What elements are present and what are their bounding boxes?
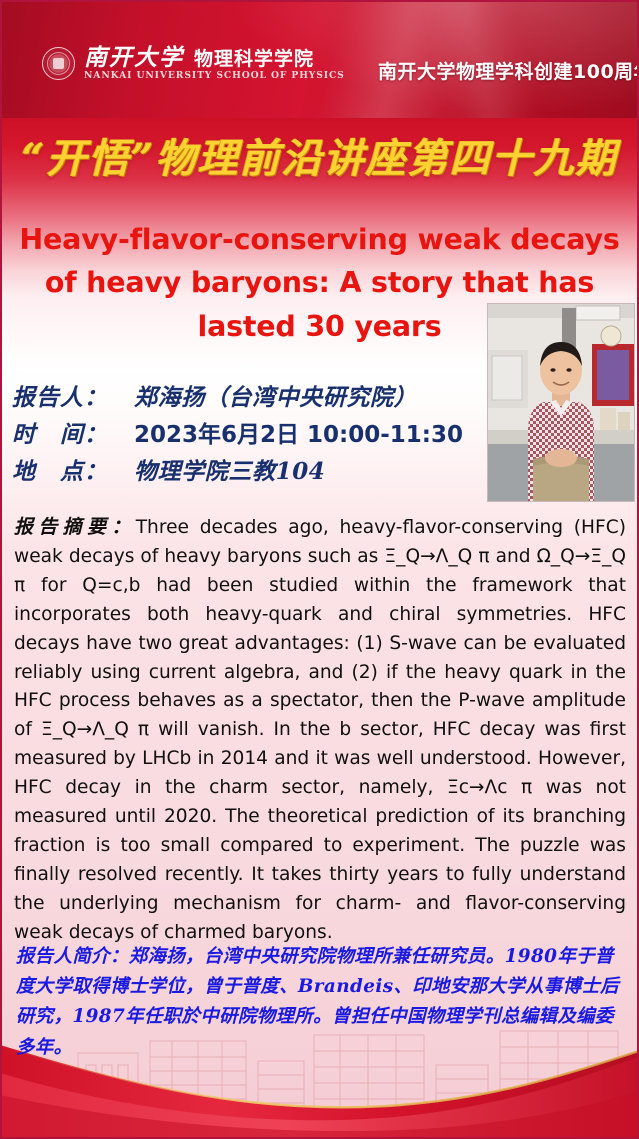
speaker-bio-section: 报告人简介：郑海扬，台湾中央研究院物理所兼任研究员。1980年于普度大学取得博士… <box>16 942 624 1063</box>
abstract-label: 报告摘要： <box>14 516 136 538</box>
info-row-time: 时 间： 2023年6月2日 10:00-11:30 <box>12 415 492 449</box>
abstract-section: 报告摘要：Three decades ago, heavy-flavor-con… <box>14 513 626 948</box>
info-label-place: 地 点： <box>12 452 134 486</box>
logo-department-cn: 物理科学学院 <box>194 50 314 69</box>
logo-brand-cn: 南开大学 <box>84 46 184 69</box>
info-value-speaker: 郑海扬（台湾中央研究院） <box>134 378 417 412</box>
anniversary-slogan: 南开大学物理学科创建100周年 <box>378 57 639 84</box>
event-info-block: 报告人： 郑海扬（台湾中央研究院） 时 间： 2023年6月2日 10:00-1… <box>12 378 492 489</box>
logo-chinese-line: 南开大学 物理科学学院 <box>84 46 345 69</box>
logo-text-column: 南开大学 物理科学学院 NANKAI UNIVERSITY SCHOOL OF … <box>84 46 345 81</box>
abstract-body: Three decades ago, heavy-flavor-conservi… <box>14 517 626 943</box>
logo-brand-en: NANKAI UNIVERSITY SCHOOL OF PHYSICS <box>84 70 345 81</box>
series-title: “开悟”物理前沿讲座第四十九期 <box>0 126 639 184</box>
lecture-poster: 南开大学 物理科学学院 NANKAI UNIVERSITY SCHOOL OF … <box>0 0 639 1139</box>
speaker-photo <box>487 303 635 502</box>
info-value-place: 物理学院三教104 <box>134 452 325 486</box>
info-row-speaker: 报告人： 郑海扬（台湾中央研究院） <box>12 378 492 412</box>
info-row-place: 地 点： 物理学院三教104 <box>12 452 492 486</box>
bio-label: 报告人简介： <box>16 946 129 967</box>
nankai-seal-icon <box>42 47 75 80</box>
info-value-time: 2023年6月2日 10:00-11:30 <box>134 415 463 449</box>
info-label-time: 时 间： <box>12 415 134 449</box>
university-logo-lockup: 南开大学 物理科学学院 NANKAI UNIVERSITY SCHOOL OF … <box>42 46 345 81</box>
info-label-speaker: 报告人： <box>12 378 134 412</box>
